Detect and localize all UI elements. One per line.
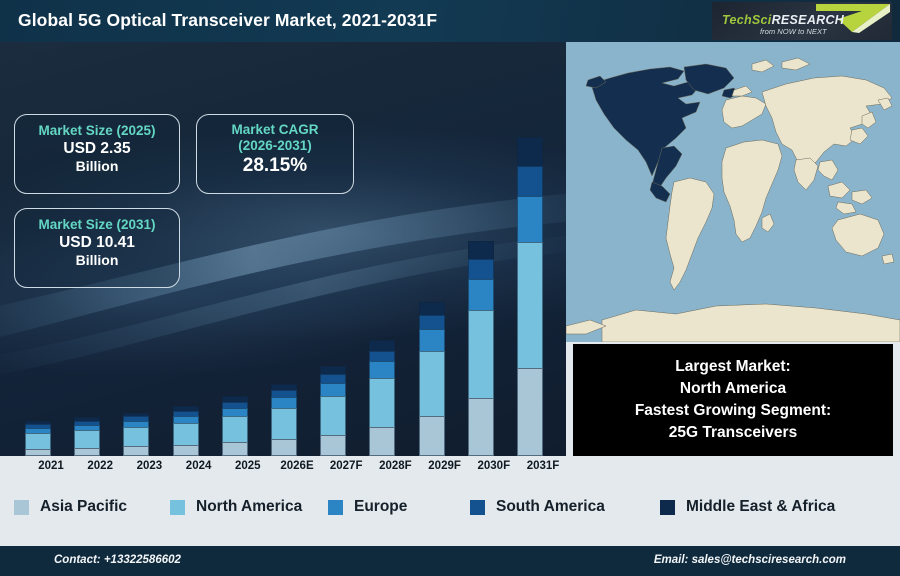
legend-swatch [170, 500, 185, 515]
legend-item-south-america[interactable]: South America [470, 498, 605, 516]
segment-europe [173, 416, 199, 423]
segment-asia-pacific [123, 446, 149, 455]
x-tick-2024: 2024 [174, 460, 224, 472]
chart-panel: Market Size (2025) USD 2.35 Billion Mark… [0, 42, 566, 456]
segment-north-america [517, 242, 543, 368]
segment-north-america [74, 430, 100, 447]
segment-middle-east-africa [517, 137, 543, 166]
segment-asia-pacific [419, 416, 445, 456]
segment-south-america [468, 259, 494, 279]
x-tick-2029F: 2029F [420, 460, 470, 472]
legend-swatch [14, 500, 29, 515]
legend-item-north-america[interactable]: North America [170, 498, 302, 516]
header-bar: Global 5G Optical Transceiver Market, 20… [0, 0, 900, 42]
x-tick-2030F: 2030F [469, 460, 519, 472]
segment-asia-pacific [74, 448, 100, 456]
legend-swatch [470, 500, 485, 515]
logo-research-text: RESEARCH [772, 13, 845, 27]
segment-middle-east-africa [419, 302, 445, 315]
x-axis-labels: 202120222023202420252026E2027F2028F2029F… [0, 456, 566, 482]
legend-label: Europe [354, 498, 407, 516]
highlights-box: Largest Market: North America Fastest Gr… [573, 344, 893, 456]
bar-2024 [173, 406, 199, 456]
fastest-segment-value: 25G Transceivers [669, 422, 797, 444]
x-tick-2023: 2023 [124, 460, 174, 472]
page-title: Global 5G Optical Transceiver Market, 20… [18, 10, 437, 31]
segment-middle-east-africa [369, 340, 395, 350]
legend-item-middle-east-africa[interactable]: Middle East & Africa [660, 498, 835, 516]
x-tick-2021: 2021 [26, 460, 76, 472]
footer-contact: Contact: +13322586602 [54, 554, 181, 566]
segment-north-america [369, 378, 395, 427]
segment-north-america [468, 310, 494, 398]
bar-2023 [123, 413, 149, 457]
stacked-bar-chart [0, 42, 566, 456]
segment-asia-pacific [173, 445, 199, 456]
segment-north-america [222, 416, 248, 442]
segment-europe [369, 361, 395, 378]
segment-north-america [419, 351, 445, 416]
segment-europe [419, 329, 445, 351]
x-tick-2025: 2025 [223, 460, 273, 472]
logo-tech-text: TechSci [722, 13, 772, 27]
infographic-poster: Global 5G Optical Transceiver Market, 20… [0, 0, 900, 576]
legend-item-asia-pacific[interactable]: Asia Pacific [14, 498, 127, 516]
segment-south-america [320, 374, 346, 383]
world-map [566, 42, 900, 342]
legend-swatch [328, 500, 343, 515]
segment-north-america [320, 396, 346, 435]
segment-asia-pacific [468, 398, 494, 456]
legend-label: North America [196, 498, 302, 516]
segment-asia-pacific [271, 439, 297, 456]
chart-legend: Asia PacificNorth AmericaEuropeSouth Ame… [0, 482, 900, 532]
bar-2031F [517, 137, 543, 456]
segment-asia-pacific [369, 427, 395, 456]
bar-2022 [74, 417, 100, 456]
segment-middle-east-africa [468, 241, 494, 259]
footer-email: Email: sales@techsciresearch.com [654, 554, 846, 566]
segment-europe [517, 196, 543, 242]
logo-tagline: from NOW to NEXT [760, 27, 827, 36]
segment-north-america [25, 433, 51, 449]
segment-asia-pacific [222, 442, 248, 455]
segment-asia-pacific [517, 368, 543, 456]
segment-south-america [271, 390, 297, 397]
legend-top-spacer [0, 532, 900, 546]
segment-south-america [419, 315, 445, 329]
segment-europe [222, 408, 248, 417]
bar-2030F [468, 241, 494, 456]
segment-north-america [123, 427, 149, 447]
legend-swatch [660, 500, 675, 515]
x-tick-2026E: 2026E [272, 460, 322, 472]
bar-2021 [25, 421, 51, 456]
x-tick-2028F: 2028F [370, 460, 420, 472]
segment-europe [320, 383, 346, 396]
segment-north-america [271, 408, 297, 440]
legend-item-europe[interactable]: Europe [328, 498, 407, 516]
bar-2025 [222, 396, 248, 456]
segment-europe [468, 279, 494, 310]
segment-south-america [369, 351, 395, 362]
segment-middle-east-africa [320, 366, 346, 374]
largest-market-value: North America [680, 378, 786, 400]
legend-label: Asia Pacific [40, 498, 127, 516]
bar-2028F [369, 340, 395, 456]
x-tick-2022: 2022 [75, 460, 125, 472]
logo-wordmark: TechSciRESEARCH [722, 13, 844, 27]
x-tick-2027F: 2027F [321, 460, 371, 472]
segment-south-america [517, 166, 543, 195]
segment-north-america [173, 423, 199, 445]
segment-europe [271, 397, 297, 407]
largest-market-label: Largest Market: [675, 356, 790, 378]
segment-asia-pacific [25, 449, 51, 456]
world-map-svg [566, 42, 900, 342]
bar-2026E [271, 384, 297, 456]
footer-bar: Contact: +13322586602 Email: sales@techs… [0, 546, 900, 576]
segment-asia-pacific [320, 435, 346, 456]
bar-2027F [320, 366, 346, 456]
legend-label: Middle East & Africa [686, 498, 835, 516]
x-tick-2031F: 2031F [518, 460, 568, 472]
bar-2029F [419, 302, 445, 456]
fastest-segment-label: Fastest Growing Segment: [635, 400, 831, 422]
techsci-research-logo: TechSciRESEARCH from NOW to NEXT [712, 2, 892, 40]
legend-label: South America [496, 498, 605, 516]
